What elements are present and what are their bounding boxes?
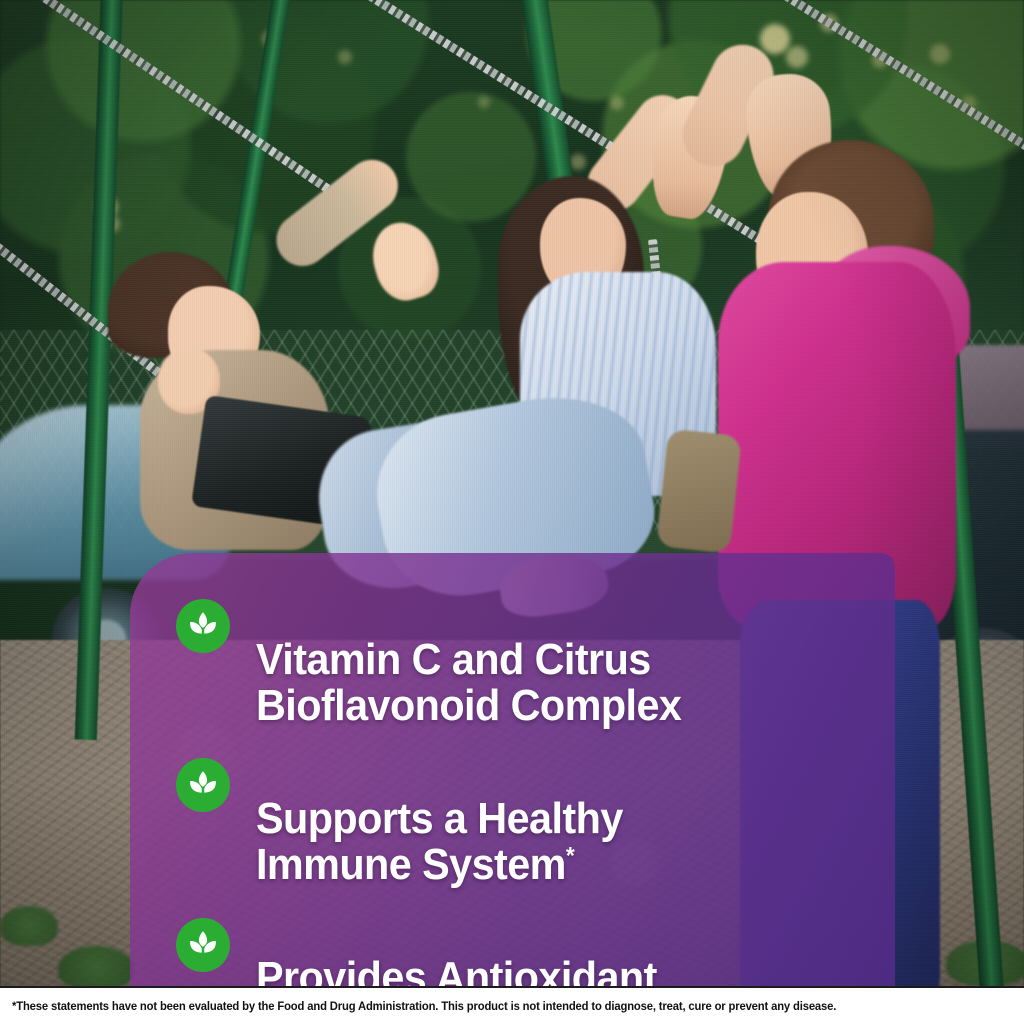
claim-label: Vitamin C and Citrus Bioflavonoid Comple…: [256, 591, 681, 728]
bokeh-light: [338, 50, 352, 64]
claim-item: Vitamin C and Citrus Bioflavonoid Comple…: [176, 591, 869, 728]
claims-overlay-panel: Vitamin C and Citrus Bioflavonoid Comple…: [130, 553, 895, 988]
bokeh-light: [478, 96, 490, 108]
bokeh-light: [760, 24, 790, 54]
man-bag-strap: [656, 428, 742, 553]
claim-label: Supports a Healthy Immune System*: [256, 750, 623, 887]
bokeh-light: [610, 96, 624, 110]
leaf-sprout-icon: [176, 758, 230, 812]
claim-item: Supports a Healthy Immune System*: [176, 750, 869, 887]
banner-stage: Vitamin C and Citrus Bioflavonoid Comple…: [0, 0, 1024, 1024]
disclaimer-text: *These statements have not been evaluate…: [12, 1000, 836, 1013]
grass-tuft: [0, 906, 58, 946]
bokeh-light: [786, 46, 808, 68]
grass-tuft: [58, 946, 134, 990]
bokeh-light: [930, 44, 950, 64]
leaf-sprout-icon: [176, 599, 230, 653]
claim-asterisk: *: [566, 842, 574, 869]
bokeh-light: [570, 154, 586, 170]
leaf-sprout-icon: [176, 918, 230, 972]
disclaimer-bar: *These statements have not been evaluate…: [0, 986, 1024, 1024]
